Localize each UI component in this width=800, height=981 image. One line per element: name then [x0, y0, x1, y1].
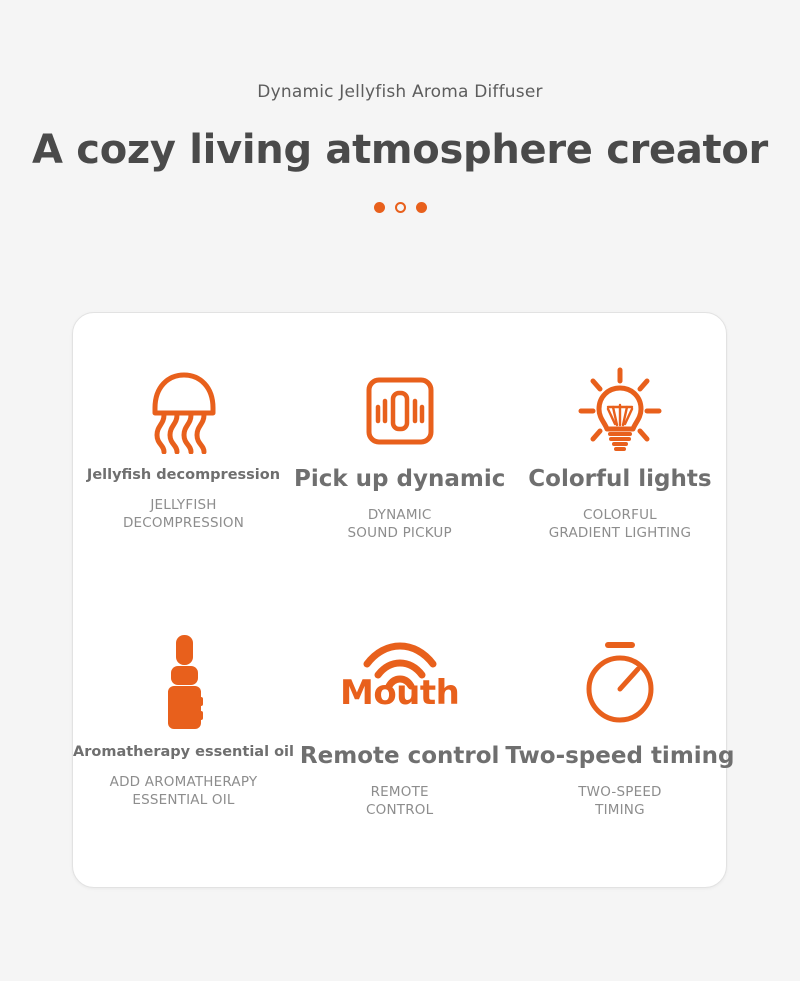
page-title: A cozy living atmosphere creator: [0, 128, 800, 172]
jellyfish-icon: [147, 365, 221, 457]
carousel-dot-2[interactable]: [395, 202, 406, 213]
feature-title: Remote control: [300, 744, 500, 770]
carousel-dot-3[interactable]: [416, 202, 427, 213]
stopwatch-icon: [578, 630, 662, 734]
feature-subtitle: ADD AROMATHERAPY ESSENTIAL OIL: [110, 774, 258, 810]
product-eyebrow: Dynamic Jellyfish Aroma Diffuser: [0, 82, 800, 102]
feature-title: Jellyfish decompression: [87, 467, 280, 483]
carousel-dot-1[interactable]: [374, 202, 385, 213]
page-header: Dynamic Jellyfish Aroma Diffuser A cozy …: [0, 0, 800, 213]
features-grid: Jellyfish decompression JELLYFISH DECOMP…: [73, 313, 726, 887]
sound-pickup-icon: [365, 365, 435, 457]
feature-title: Aromatherapy essential oil: [73, 744, 294, 760]
feature-title: Pick up dynamic: [294, 467, 505, 493]
feature-title: Colorful lights: [528, 467, 711, 493]
feature-subtitle: COLORFUL GRADIENT LIGHTING: [549, 507, 691, 543]
feature-colorful-lights[interactable]: Colorful lights COLORFUL GRADIENT LIGHTI…: [505, 313, 734, 600]
feature-subtitle: REMOTE CONTROL: [366, 784, 433, 820]
wifi-remote-icon: Mouth: [330, 630, 470, 734]
feature-sound-pickup[interactable]: Pick up dynamic DYNAMIC SOUND PICKUP: [294, 313, 505, 600]
feature-remote-control[interactable]: Mouth Remote control REMOTE CONTROL: [294, 600, 505, 887]
feature-subtitle: TWO-SPEED TIMING: [578, 784, 661, 820]
lightbulb-icon: [577, 365, 663, 457]
remote-icon-label: Mouth: [340, 676, 459, 710]
feature-essential-oil[interactable]: Aromatherapy essential oil ADD AROMATHER…: [73, 600, 294, 887]
feature-two-speed-timing[interactable]: Two-speed timing TWO-SPEED TIMING: [505, 600, 734, 887]
carousel-dots[interactable]: [0, 202, 800, 213]
features-card: Jellyfish decompression JELLYFISH DECOMP…: [72, 312, 727, 888]
feature-jellyfish[interactable]: Jellyfish decompression JELLYFISH DECOMP…: [73, 313, 294, 600]
feature-subtitle: DYNAMIC SOUND PICKUP: [348, 507, 452, 543]
feature-subtitle: JELLYFISH DECOMPRESSION: [123, 497, 244, 533]
dropper-bottle-icon: [160, 630, 208, 734]
feature-title: Two-speed timing: [505, 744, 734, 770]
